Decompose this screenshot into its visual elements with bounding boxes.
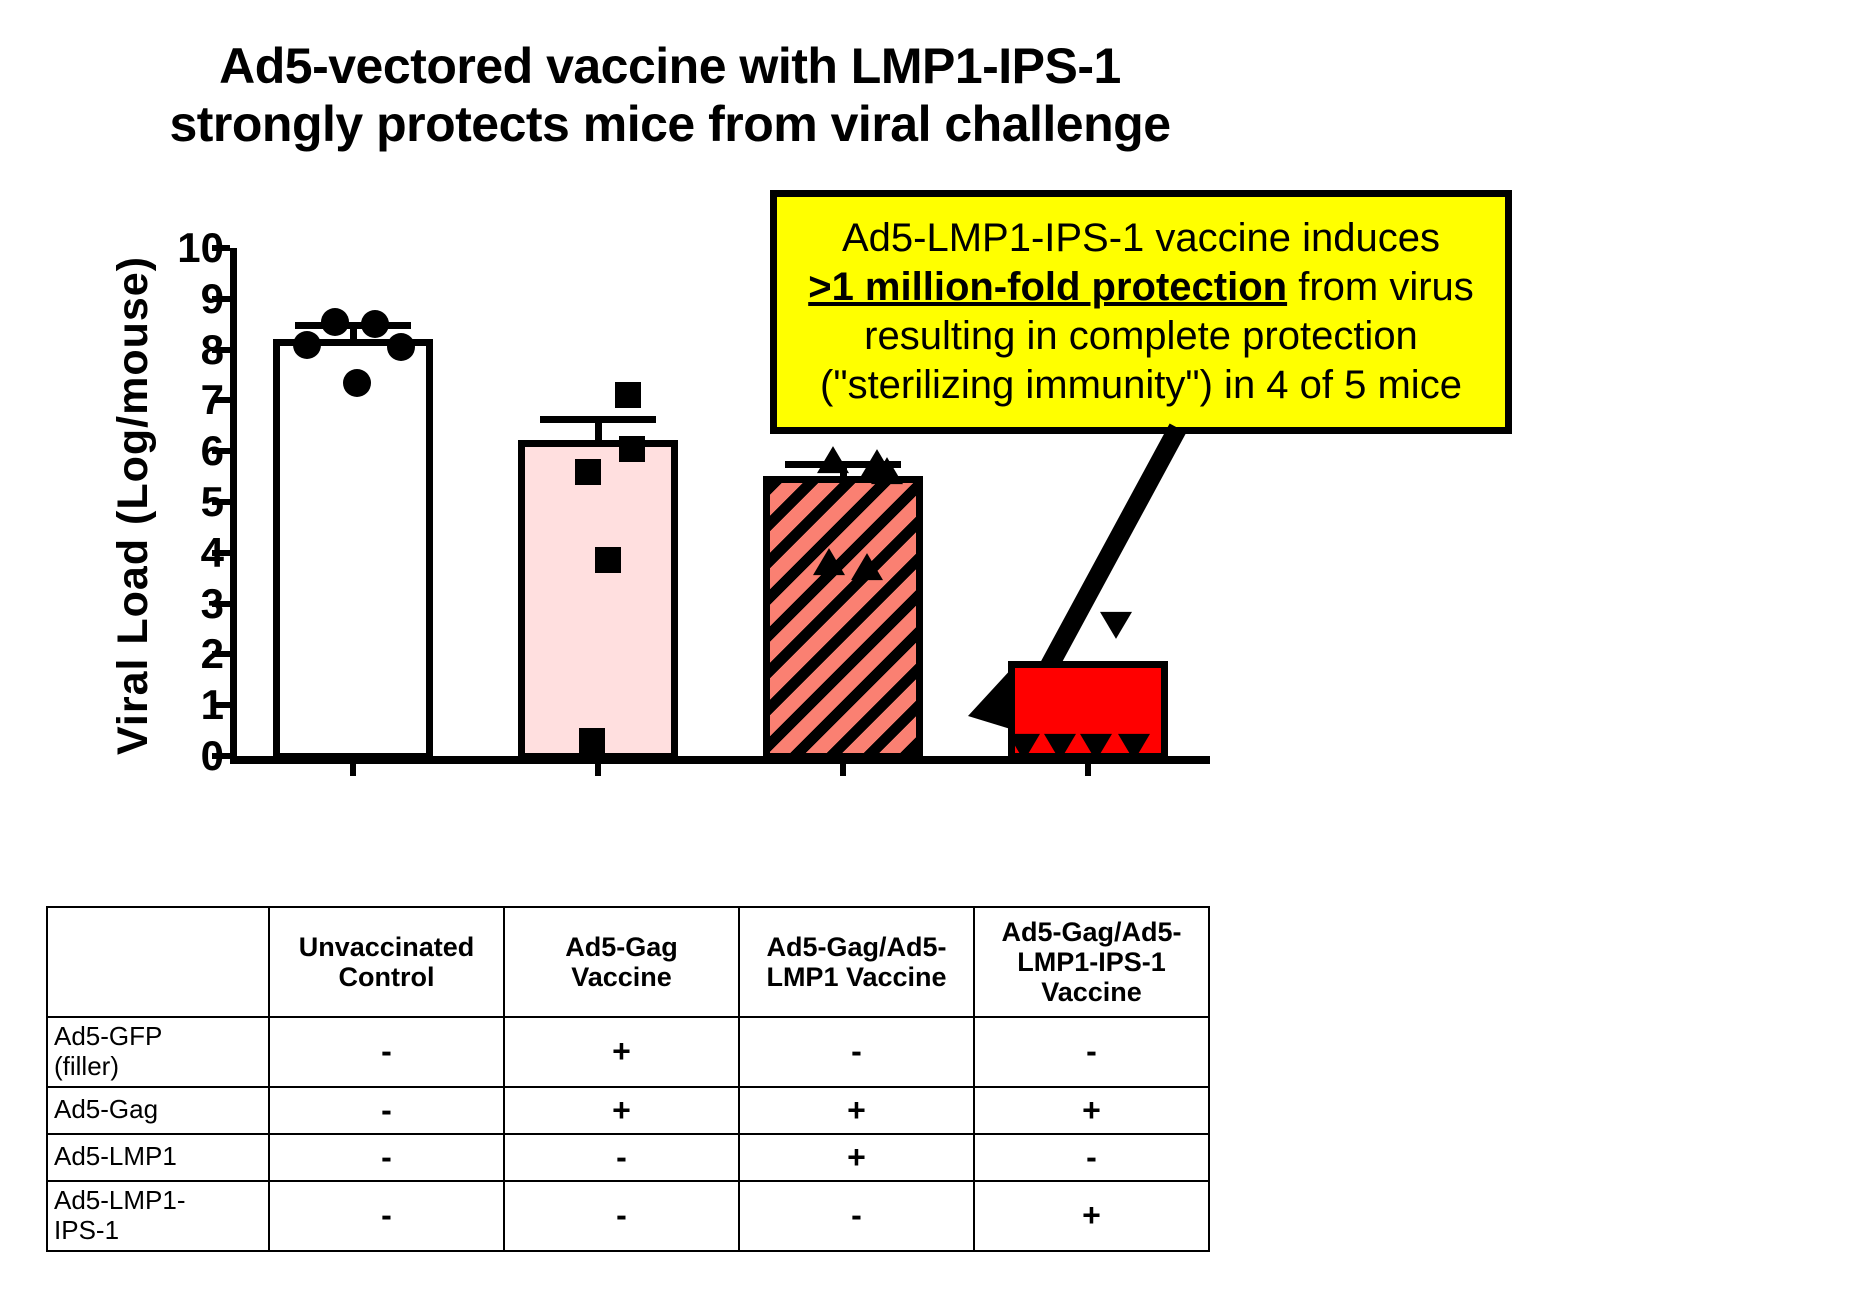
data-point-triangle-up <box>817 447 849 474</box>
data-point-circle <box>321 308 349 336</box>
y-axis-tick-label: 3 <box>201 583 224 625</box>
table-column-header-1: Unvaccinated Control <box>269 907 504 1017</box>
data-point-triangle-up <box>851 553 883 580</box>
table-corner-cell <box>47 907 269 1017</box>
table-row: Ad5-LMP1--+- <box>47 1134 1209 1181</box>
bar-3 <box>763 476 923 760</box>
data-point-square <box>619 436 645 462</box>
data-point-circle <box>293 331 321 359</box>
x-axis-tick <box>595 756 601 776</box>
bar-2 <box>518 440 678 760</box>
data-point-circle <box>387 333 415 361</box>
bar-1 <box>273 339 433 760</box>
y-axis-tick-label: 0 <box>201 735 224 777</box>
y-axis-tick-label: 4 <box>201 532 224 574</box>
table-row: Ad5-LMP1- IPS-1---+ <box>47 1181 1209 1251</box>
table-row-label-3: Ad5-LMP1 <box>47 1134 269 1181</box>
data-point-circle <box>361 310 389 338</box>
table-cell-r2-c3: + <box>739 1087 974 1134</box>
y-axis-tick-label: 10 <box>177 227 224 269</box>
table-header-row: Unvaccinated ControlAd5-Gag VaccineAd5-G… <box>47 907 1209 1017</box>
y-axis-tick-label: 6 <box>201 430 224 472</box>
data-point-triangle-down <box>1044 734 1076 761</box>
table-cell-r3-c1: - <box>269 1134 504 1181</box>
error-bar-cap-1 <box>295 322 411 329</box>
table-cell-r2-c1: - <box>269 1087 504 1134</box>
table-cell-r1-c4: - <box>974 1017 1209 1087</box>
table-cell-r4-c4: + <box>974 1181 1209 1251</box>
table-row-label-4: Ad5-LMP1- IPS-1 <box>47 1181 269 1251</box>
table-cell-r2-c4: + <box>974 1087 1209 1134</box>
callout-line-2-rest: from virus <box>1287 265 1474 309</box>
table-row-label-2: Ad5-Gag <box>47 1087 269 1134</box>
y-axis-tick-label: 5 <box>201 481 224 523</box>
data-point-triangle-down <box>1100 612 1132 639</box>
table-cell-r2-c2: + <box>504 1087 739 1134</box>
table-cell-r3-c3: + <box>739 1134 974 1181</box>
table-column-header-2: Ad5-Gag Vaccine <box>504 907 739 1017</box>
data-point-circle <box>343 369 371 397</box>
y-axis-tick-label: 8 <box>201 329 224 371</box>
table-row: Ad5-Gag-+++ <box>47 1087 1209 1134</box>
table-cell-r1-c2: + <box>504 1017 739 1087</box>
table-cell-r1-c3: - <box>739 1017 974 1087</box>
data-point-square <box>575 459 601 485</box>
page-title: Ad5-vectored vaccine with LMP1-IPS-1 str… <box>0 38 1340 153</box>
data-point-triangle-down <box>1008 734 1040 761</box>
y-axis-title: Viral Load (Log/mouse) <box>104 248 164 762</box>
y-axis-tick-label: 2 <box>201 633 224 675</box>
y-axis-tick-label: 9 <box>201 278 224 320</box>
condition-table: Unvaccinated ControlAd5-Gag VaccineAd5-G… <box>46 906 1210 1252</box>
y-axis-tick-label: 1 <box>201 684 224 726</box>
data-point-triangle-down <box>1118 734 1150 761</box>
data-point-square <box>615 382 641 408</box>
y-axis-tick-label: 7 <box>201 379 224 421</box>
table-cell-r4-c2: - <box>504 1181 739 1251</box>
table-cell-r4-c3: - <box>739 1181 974 1251</box>
table-body: Ad5-GFP (filler)-+--Ad5-Gag-+++Ad5-LMP1-… <box>47 1017 1209 1251</box>
data-point-triangle-down <box>1080 734 1112 761</box>
table-row-label-1: Ad5-GFP (filler) <box>47 1017 269 1087</box>
x-axis-tick <box>840 756 846 776</box>
data-point-triangle-up <box>813 548 845 575</box>
data-point-triangle-up <box>871 457 903 484</box>
table-cell-r3-c4: - <box>974 1134 1209 1181</box>
table-cell-r3-c2: - <box>504 1134 739 1181</box>
table-column-header-3: Ad5-Gag/Ad5- LMP1 Vaccine <box>739 907 974 1017</box>
x-axis-tick <box>350 756 356 776</box>
y-axis-title-text: Viral Load (Log/mouse) <box>110 255 159 754</box>
table-row: Ad5-GFP (filler)-+-- <box>47 1017 1209 1087</box>
error-bar-cap-2 <box>540 416 656 423</box>
table-column-header-4: Ad5-Gag/Ad5- LMP1-IPS-1 Vaccine <box>974 907 1209 1017</box>
data-point-square <box>579 728 605 754</box>
table-cell-r1-c1: - <box>269 1017 504 1087</box>
table-cell-r4-c1: - <box>269 1181 504 1251</box>
data-point-square <box>595 547 621 573</box>
